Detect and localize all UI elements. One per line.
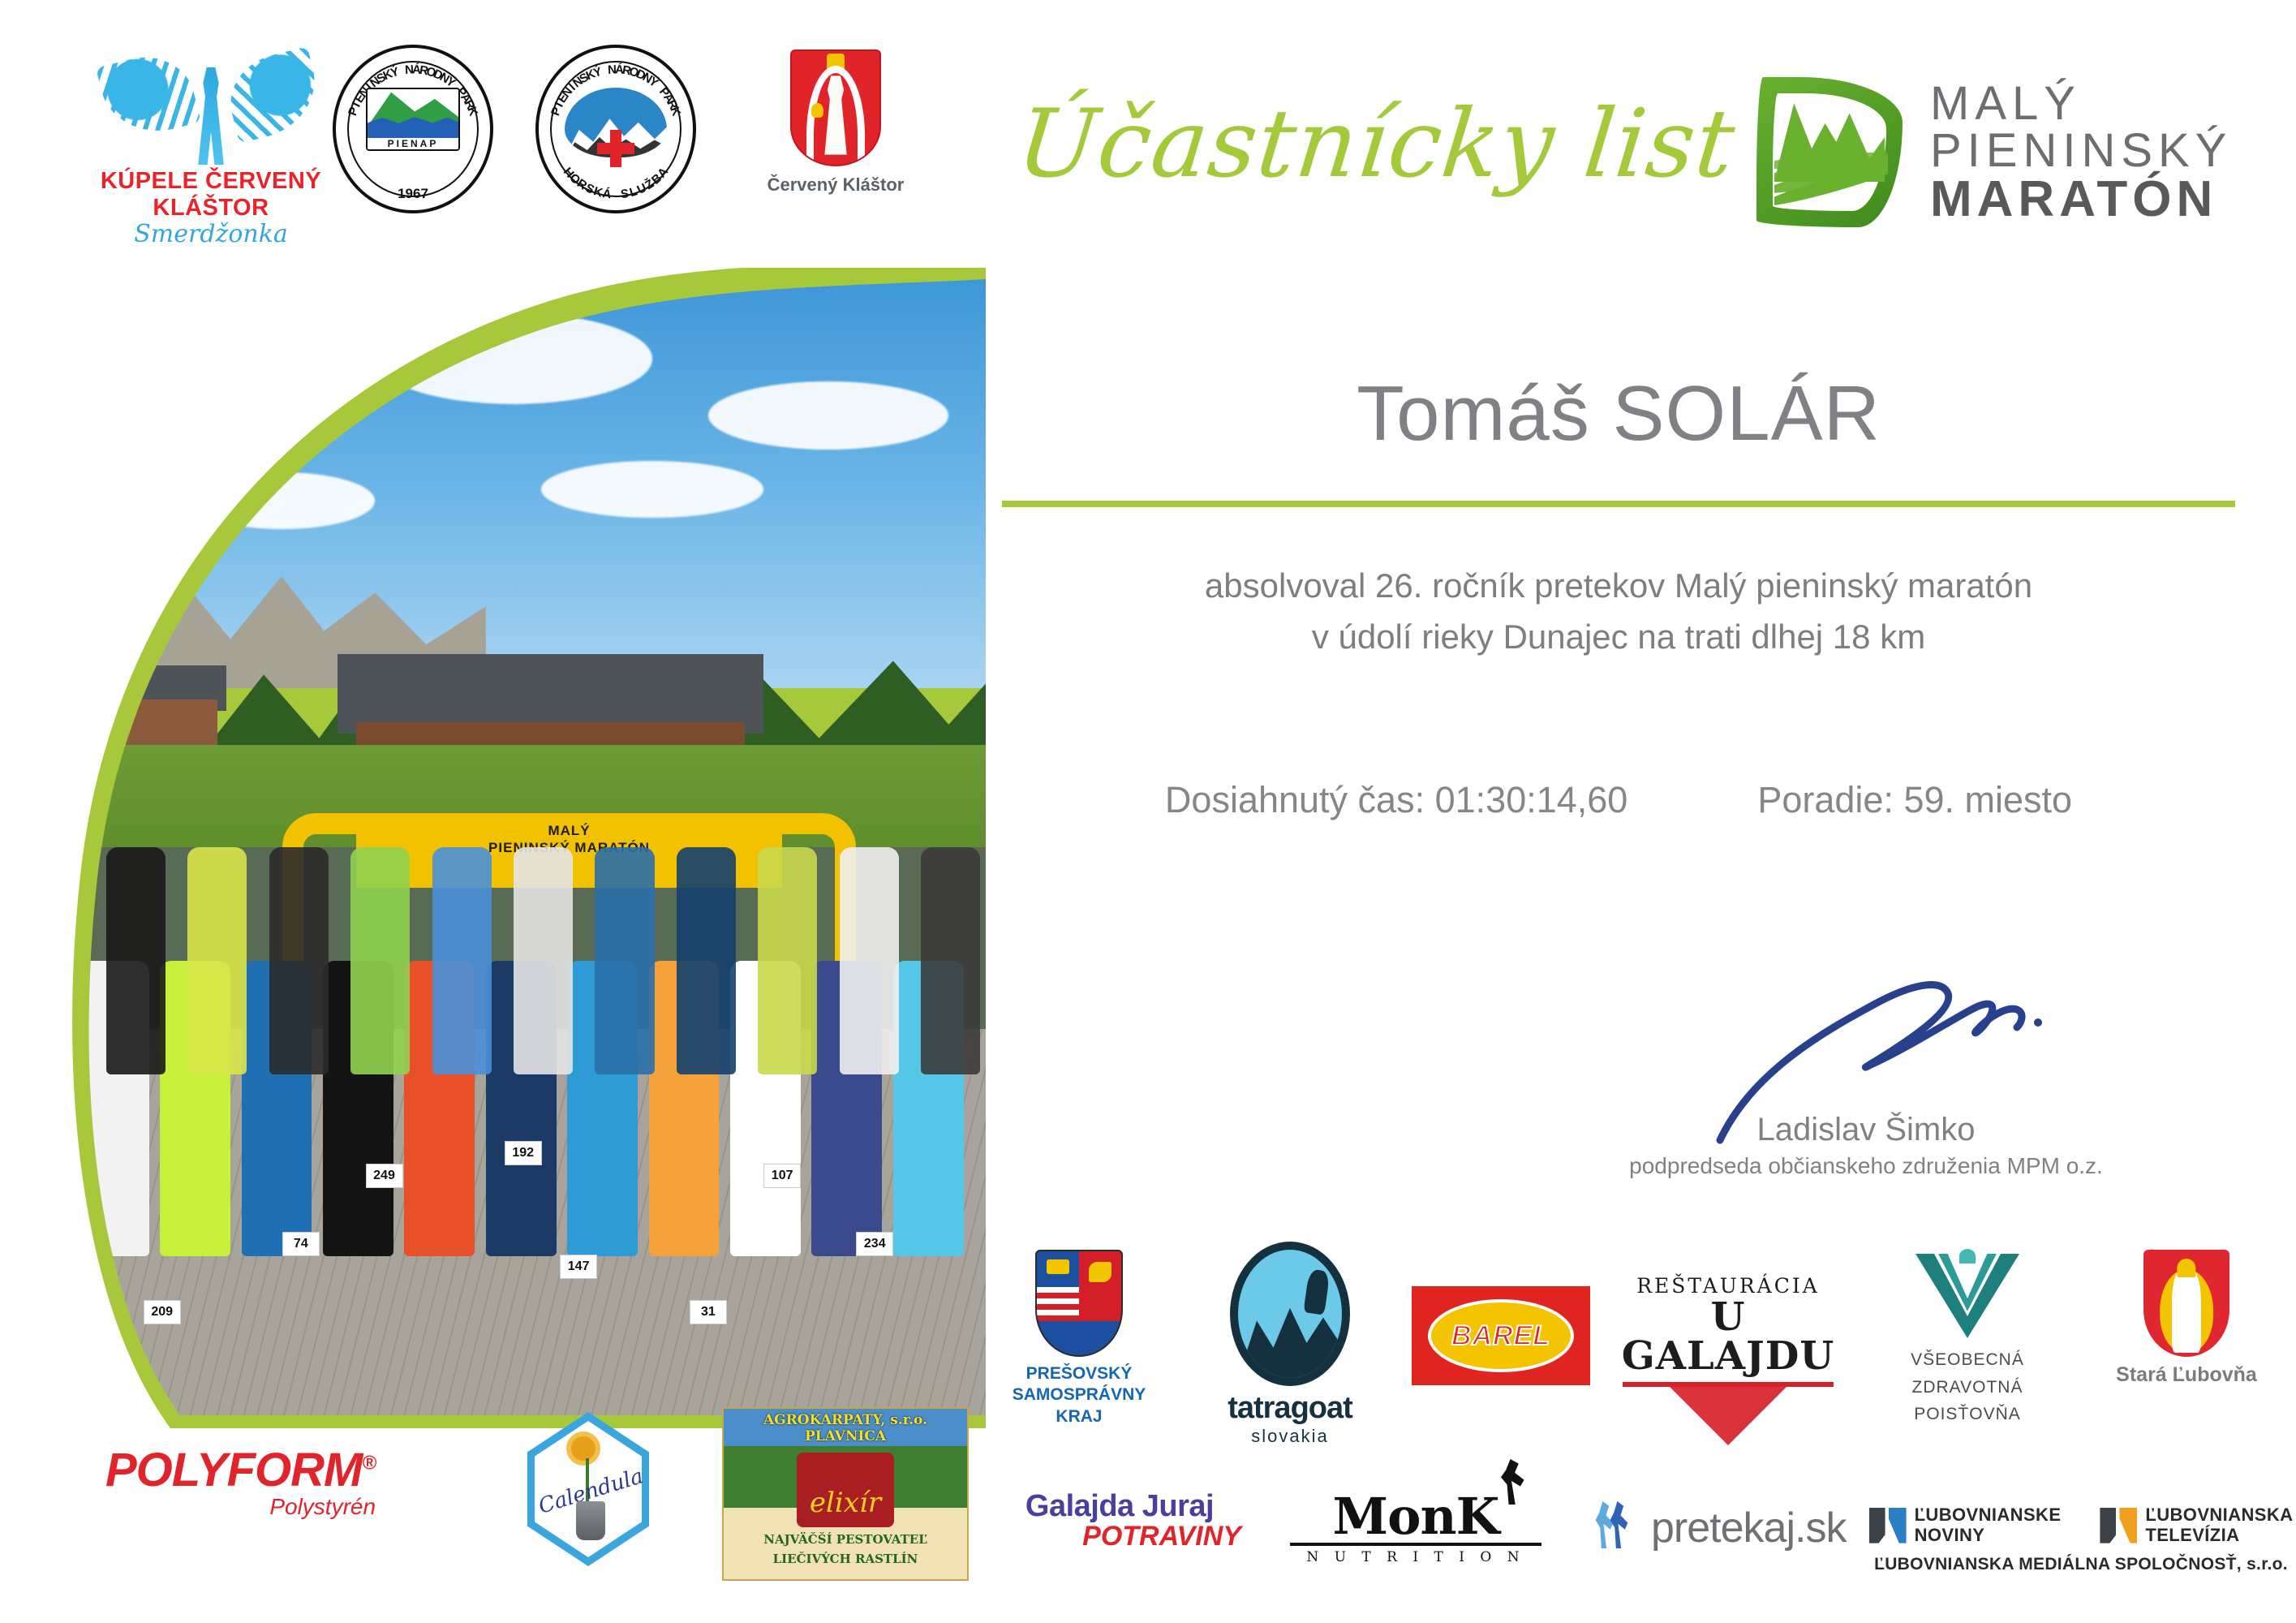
brand-line3: MARATÓN — [1930, 174, 2232, 225]
ugalajdu-line2: U GALAJDU — [1615, 1298, 1842, 1375]
signatory-name: Ladislav Šimko — [1606, 1112, 2126, 1148]
sponsor-polyform: POLYFORM® Polystyrén — [105, 1443, 376, 1520]
sponsor-tatragoat: tatragoat slovakia — [1193, 1242, 1387, 1447]
ln-mark-icon — [1869, 1508, 1907, 1543]
runner-silhouette — [514, 847, 573, 1074]
tatragoat-name: tatragoat — [1193, 1391, 1387, 1426]
runner-silhouette — [677, 847, 736, 1074]
kupele-line2: Smerdžonka — [89, 220, 333, 248]
partner-logo-horska-sluzba: PIENINSKÝ NÁRODNÝ PARK HORSKÁ SLUŽBA — [535, 45, 738, 213]
body-line1: absolvoval 26. ročník pretekov Malý pien… — [1002, 560, 2235, 611]
psk-cap2: SAMOSPRÁVNY — [986, 1384, 1172, 1406]
runner-silhouette — [269, 847, 329, 1074]
sponsor-monk-nutrition: MonK N U T R I T I O N — [1290, 1493, 1541, 1565]
goat-mountain-icon — [1230, 1242, 1350, 1386]
sponsor-vzp: VŠEOBECNÁ ZDRAVOTNÁ POISŤOVŇA — [1874, 1254, 2061, 1428]
pienap-badge-icon: PIENAP — [366, 88, 460, 151]
sponsor-presovsky-kraj: PREŠOVSKÝ SAMOSPRÁVNY KRAJ — [986, 1250, 1172, 1427]
elixir-name: elixír — [797, 1487, 894, 1519]
lt-line2: TELEVÍZIA — [2145, 1526, 2293, 1546]
sponsor-stara-lubovna: Stará Ľubovňa — [2093, 1250, 2280, 1387]
leaf-mountain-icon — [1756, 77, 1903, 227]
agrokarpaty-sub2: LIEČIVÝCH RASTLÍN — [724, 1552, 967, 1566]
runner-silhouette — [106, 847, 166, 1074]
time-value: 01:30:14,60 — [1435, 779, 1628, 820]
lt-line1: ĽUBOVNIANSKA — [2145, 1505, 2293, 1526]
stara-lubovna-coat-of-arms-icon — [2143, 1250, 2229, 1357]
time-label: Dosiahnutý čas: — [1165, 779, 1425, 820]
body-line2: v údolí rieky Dunajec na trati dlhej 18 … — [1002, 611, 2235, 662]
monk-line2: N U T R I T I O N — [1290, 1549, 1541, 1565]
runner-silhouette — [187, 847, 247, 1074]
recipient-name: Tomáš SOLÁR — [1002, 369, 2235, 458]
elixir-badge-icon: elixír — [797, 1453, 894, 1527]
event-brand-logo: MALÝ PIENINSKÝ MARATÓN — [1756, 77, 2232, 227]
lms-footer: ĽUBOVNIANSKA MEDIÁLNA SPOLOČNOSŤ, s.r.o. — [1874, 1555, 2288, 1574]
kupele-line1: KÚPELE ČERVENÝ KLÁŠTOR — [89, 168, 333, 222]
pienap-year: 1967 — [336, 186, 490, 202]
partner-logo-cerveny-klastor: Červený Kláštor — [738, 45, 933, 196]
folk-pattern-icon — [1670, 1387, 1786, 1445]
brand-line1: MALÝ — [1930, 80, 2232, 127]
psk-cap3: KRAJ — [986, 1406, 1172, 1427]
signatory-role: podpredseda občianskeho združenia MPM o.… — [1606, 1153, 2126, 1179]
vzp-cap3: POISŤOVŇA — [1874, 1401, 2061, 1428]
psk-cap1: PREŠOVSKÝ — [986, 1363, 1172, 1384]
bib-number: 74 — [282, 1232, 320, 1256]
certificate-body: absolvoval 26. ročník pretekov Malý pien… — [1002, 560, 2235, 662]
angel-wings-icon — [89, 45, 333, 166]
arch-line1: MALÝ — [356, 822, 782, 839]
bib-number: 147 — [560, 1255, 597, 1279]
barel-logo-icon: BAREL — [1412, 1286, 1590, 1385]
sponsor-lubovnianska-medialna: ĽUBOVNIANSKE NOVINY ĽUBOVNIANSKA TELEVÍZ… — [1874, 1505, 2288, 1574]
mortar-pestle-icon — [576, 1501, 605, 1540]
runner-silhouette — [921, 847, 980, 1074]
partner-logo-kupele-cerveny-klastor: KÚPELE ČERVENÝ KLÁŠTOR Smerdžonka — [89, 45, 333, 248]
sponsor-pretekaj-sk: pretekaj.sk — [1594, 1501, 1862, 1555]
cerveny-klastor-coat-of-arms-icon — [790, 50, 881, 166]
runner-silhouette — [758, 847, 817, 1074]
bib-number: 234 — [856, 1232, 893, 1256]
green-divider — [1002, 501, 2235, 507]
ln-line1: ĽUBOVNIANSKE — [1915, 1505, 2062, 1526]
tatragoat-sub: slovakia — [1193, 1426, 1387, 1447]
finish-place: Poradie: 59. miesto — [1757, 779, 2072, 821]
lubovnianske-noviny: ĽUBOVNIANSKE NOVINY — [1869, 1505, 2062, 1545]
bib-number: 192 — [505, 1141, 542, 1165]
sponsor-galajda-juraj: Galajda Juraj POTRAVINY — [998, 1489, 1241, 1552]
barel-name: BAREL — [1451, 1320, 1550, 1352]
pretekaj-name: pretekaj.sk — [1651, 1504, 1846, 1552]
sponsor-u-galajdu: REŠTAURÁCIA U GALAJDU — [1615, 1274, 1842, 1445]
photo-collage: MALÝ PIENINSKÝ MARATÓN 20974249192147311… — [49, 268, 986, 1428]
place-label: Poradie: — [1757, 779, 1894, 820]
sponsor-barel: BAREL — [1404, 1286, 1598, 1385]
bib-number: 249 — [366, 1164, 403, 1188]
presov-coat-of-arms-icon — [1035, 1250, 1123, 1357]
agrokarpaty-sub1: NAJVÄČŠÍ PESTOVATEĽ — [724, 1532, 967, 1547]
monk-line1: MonK — [1290, 1493, 1541, 1541]
stara-lubovna-name: Stará Ľubovňa — [2093, 1363, 2280, 1387]
vzp-v-icon — [1915, 1254, 2019, 1338]
runner-silhouette — [840, 847, 899, 1074]
bib-number: 107 — [763, 1164, 801, 1188]
runners-icon — [1594, 1501, 1640, 1555]
sponsor-calendula: Calendula — [527, 1412, 649, 1566]
polyform-name: POLYFORM — [105, 1444, 362, 1496]
agrokarpaty-title: AGROKARPATY, s.r.o. PLAVNICA — [724, 1412, 967, 1444]
vzp-cap1: VŠEOBECNÁ — [1874, 1346, 2061, 1374]
galajda-line1: Galajda Juraj — [998, 1489, 1241, 1524]
registered-icon: ® — [362, 1453, 376, 1474]
certificate-page: KÚPELE ČERVENÝ KLÁŠTOR Smerdžonka PIENIN… — [0, 0, 2296, 1623]
horska-sluzba-seal-icon: PIENINSKÝ NÁRODNÝ PARK HORSKÁ SLUŽBA — [535, 45, 696, 213]
ln-line2: NOVINY — [1915, 1526, 2062, 1546]
race-photo: MALÝ PIENINSKÝ MARATÓN 20974249192147311… — [60, 279, 986, 1415]
pienap-seal-icon: PIENINSKÝ NÁRODNÝ PARK PIENAP 1967 — [333, 45, 493, 213]
partner-logo-strip: KÚPELE ČERVENÝ KLÁŠTOR Smerdžonka PIENIN… — [89, 45, 949, 223]
page-title: Účastnícky list — [1013, 89, 1740, 199]
sponsor-agrokarpaty: AGROKARPATY, s.r.o. PLAVNICA elixír NAJV… — [722, 1407, 969, 1581]
brand-line2: PIENINSKÝ — [1930, 127, 2232, 174]
polyform-tagline: Polystyrén — [105, 1494, 376, 1520]
finish-time: Dosiahnutý čas: 01:30:14,60 — [1165, 779, 1627, 821]
pienap-badge-label: PIENAP — [368, 138, 458, 149]
signature-block: Ladislav Šimko podpredseda občianskeho z… — [1606, 998, 2126, 1179]
lubovnianska-televizia: ĽUBOVNIANSKA TELEVÍZIA — [2100, 1505, 2293, 1545]
cerveny-klastor-label: Červený Kláštor — [738, 174, 933, 196]
runner-silhouette — [432, 847, 492, 1074]
runner-silhouette — [350, 847, 410, 1074]
bib-number: 31 — [690, 1300, 727, 1324]
runner-silhouette — [595, 847, 654, 1074]
partner-logo-pienap: PIENINSKÝ NÁRODNÝ PARK PIENAP 1967 — [333, 45, 535, 213]
galajda-line2: POTRAVINY — [998, 1521, 1241, 1552]
bib-number: 209 — [144, 1300, 181, 1324]
red-cross-icon — [597, 130, 634, 167]
sponsor-row-left: POLYFORM® Polystyrén Calendula AGROKARPA… — [105, 1412, 990, 1591]
vzp-cap2: ZDRAVOTNÁ — [1874, 1374, 2061, 1401]
lt-mark-icon — [2100, 1508, 2137, 1543]
result-row: Dosiahnutý čas: 01:30:14,60 Poradie: 59.… — [1002, 779, 2235, 821]
brand-wordmark: MALÝ PIENINSKÝ MARATÓN — [1930, 80, 2232, 225]
place-value: 59. miesto — [1903, 779, 2072, 820]
